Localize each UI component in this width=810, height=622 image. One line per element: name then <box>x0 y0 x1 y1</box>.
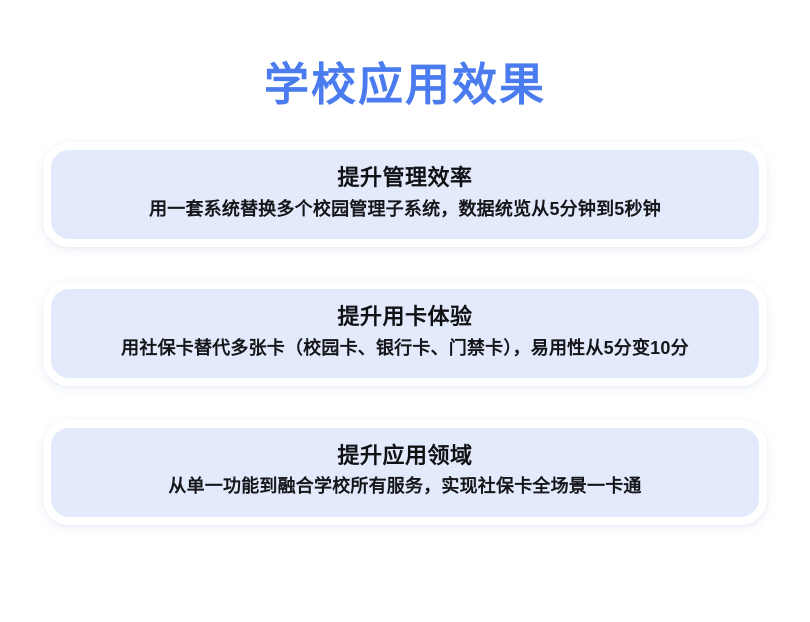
benefit-card-description: 从单一功能到融合学校所有服务，实现社保卡全场景一卡通 <box>51 474 759 499</box>
benefit-card: 提升管理效率 用一套系统替换多个校园管理子系统，数据统览从5分钟到5秒钟 <box>43 142 767 247</box>
slide-root: 学校应用效果 提升管理效率 用一套系统替换多个校园管理子系统，数据统览从5分钟到… <box>0 0 810 622</box>
benefit-card-title: 提升用卡体验 <box>51 302 759 332</box>
benefit-card-description: 用社保卡替代多张卡（校园卡、银行卡、门禁卡），易用性从5分变10分 <box>51 336 759 361</box>
benefit-card-title: 提升应用领域 <box>51 441 759 471</box>
page-title: 学校应用效果 <box>0 0 810 107</box>
benefit-card-description: 用一套系统替换多个校园管理子系统，数据统览从5分钟到5秒钟 <box>51 197 759 222</box>
benefit-card: 提升应用领域 从单一功能到融合学校所有服务，实现社保卡全场景一卡通 <box>43 420 767 525</box>
benefit-card: 提升用卡体验 用社保卡替代多张卡（校园卡、银行卡、门禁卡），易用性从5分变10分 <box>43 281 767 386</box>
benefit-card-title: 提升管理效率 <box>51 163 759 193</box>
benefit-card-list: 提升管理效率 用一套系统替换多个校园管理子系统，数据统览从5分钟到5秒钟 提升用… <box>0 142 810 525</box>
